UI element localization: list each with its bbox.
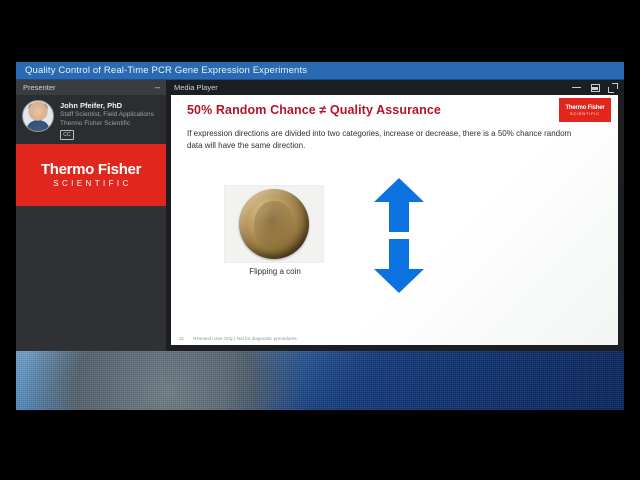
presenter-info: John Pfeifer, PhD Staff Scientist, Field… bbox=[60, 100, 154, 140]
minimize-icon[interactable] bbox=[572, 83, 581, 92]
slide-body-text: If expression directions are divided int… bbox=[187, 128, 577, 151]
slide-footer-text: Research Use Only | Not for diagnostic p… bbox=[193, 336, 297, 341]
presenter-minimize-icon[interactable]: – bbox=[155, 83, 160, 92]
slide-logo-main: Thermo Fisher bbox=[565, 105, 604, 111]
arrow-down-icon bbox=[374, 239, 424, 293]
slide-thermo-fisher-logo: Thermo Fisher SCIENTIFIC bbox=[559, 98, 611, 122]
window-title-bar: Quality Control of Real-Time PCR Gene Ex… bbox=[16, 62, 624, 80]
presenter-organization: Thermo Fisher Scientific bbox=[60, 120, 154, 129]
double-arrow-graphic bbox=[374, 178, 424, 293]
presenter-panel: Presenter – John Pfeifer, PhD Staff Scie… bbox=[16, 80, 166, 351]
media-player-header: Media Player bbox=[166, 80, 624, 95]
window-controls bbox=[572, 83, 617, 92]
slide-logo-sub: SCIENTIFIC bbox=[570, 112, 600, 116]
coin-image bbox=[224, 185, 324, 263]
expand-icon[interactable] bbox=[608, 83, 617, 92]
closed-caption-badge[interactable]: CC bbox=[60, 130, 74, 140]
coin-figure: Flipping a coin bbox=[224, 185, 326, 276]
webinar-window: Quality Control of Real-Time PCR Gene Ex… bbox=[16, 62, 624, 350]
thermo-fisher-logo-main: Thermo Fisher bbox=[41, 162, 141, 177]
slide-page-number: 21 bbox=[179, 336, 184, 341]
restore-icon[interactable] bbox=[590, 83, 599, 92]
presenter-panel-header: Presenter – bbox=[16, 80, 166, 95]
thermo-fisher-logo-panel: Thermo Fisher SCIENTIFIC bbox=[16, 144, 166, 206]
window-body: Presenter – John Pfeifer, PhD Staff Scie… bbox=[16, 80, 624, 351]
coin-caption: Flipping a coin bbox=[224, 267, 326, 276]
media-player-panel: Media Player Thermo Fisher SCIENTIFIC 50… bbox=[166, 80, 624, 351]
presentation-slide[interactable]: Thermo Fisher SCIENTIFIC 50% Random Chan… bbox=[171, 95, 618, 345]
window-title: Quality Control of Real-Time PCR Gene Ex… bbox=[16, 65, 307, 76]
presenter-panel-filler bbox=[16, 206, 166, 351]
presenter-role: Staff Scientist, Field Applications bbox=[60, 111, 154, 120]
slide-title: 50% Random Chance ≠ Quality Assurance bbox=[187, 103, 441, 117]
presenter-card: John Pfeifer, PhD Staff Scientist, Field… bbox=[16, 95, 166, 144]
media-player-label: Media Player bbox=[174, 83, 218, 92]
coin-disc bbox=[239, 189, 309, 259]
presenter-panel-label: Presenter bbox=[23, 83, 56, 92]
thermo-fisher-logo-sub: SCIENTIFIC bbox=[50, 179, 131, 188]
slide-footer: 21 Research Use Only | Not for diagnosti… bbox=[179, 336, 297, 341]
presenter-name: John Pfeifer, PhD bbox=[60, 101, 154, 111]
avatar bbox=[22, 100, 54, 132]
arrow-up-icon bbox=[374, 178, 424, 232]
